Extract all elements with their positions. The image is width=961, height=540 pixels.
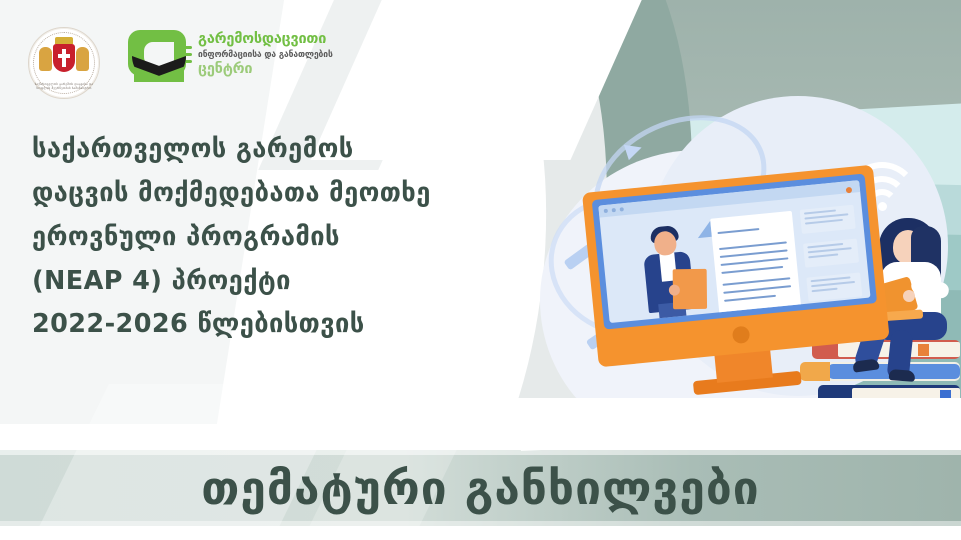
sidebar-card bbox=[800, 205, 856, 234]
eiec-logo-line2: ინფორმაციისა და განათლების bbox=[198, 50, 398, 61]
title-line-2: დაცვის მოქმედებათა მეოთხე bbox=[32, 172, 452, 216]
title-line-3: ეროვნული პროგრამის bbox=[32, 216, 452, 260]
title-line-1: საქართველოს გარემოს bbox=[32, 128, 452, 172]
sidebar-card bbox=[803, 239, 859, 268]
document-page bbox=[710, 211, 801, 315]
title-line-5: 2022-2026 წლებისთვის bbox=[32, 303, 452, 347]
monitor-body bbox=[582, 165, 890, 368]
logo-line bbox=[174, 46, 192, 49]
window-dot-icon bbox=[620, 207, 624, 211]
desktop-monitor bbox=[582, 164, 902, 412]
monitor-knob bbox=[732, 326, 751, 345]
eiec-logo-text: გარემოსდაცვითი ინფორმაციისა და განათლები… bbox=[198, 32, 398, 78]
window-dot-icon bbox=[604, 209, 608, 213]
logo-row: საქართველოს გარემოს დაცვისა და სოფლის მე… bbox=[0, 0, 420, 110]
screen-content bbox=[598, 180, 870, 323]
hand bbox=[903, 290, 915, 302]
window-dot-icon bbox=[612, 208, 616, 212]
sidebar-card bbox=[806, 272, 862, 301]
banner-title: თემატური განხილვები bbox=[0, 454, 961, 522]
eiec-book-logo bbox=[128, 30, 190, 88]
title-line-4: (NEAP 4) პროექტი bbox=[32, 260, 452, 304]
presentation-slide: საქართველოს გარემოს დაცვისა და სოფლის მე… bbox=[0, 0, 961, 540]
document-fold-icon bbox=[696, 221, 711, 238]
bottom-banner: თემატური განხილვები bbox=[0, 424, 961, 540]
eiec-logo: გარემოსდაცვითი ინფორმაციისა და განათლები… bbox=[128, 30, 398, 88]
lion-supporter-right bbox=[76, 47, 89, 71]
slide-title: საქართველოს გარემოს დაცვის მოქმედებათა მ… bbox=[32, 128, 452, 347]
eiec-logo-line3: ცენტრი bbox=[198, 62, 398, 78]
coat-of-arms-of-georgia-seal: საქართველოს გარემოს დაცვისა და სოფლის მე… bbox=[28, 27, 100, 99]
monitor-screen bbox=[592, 174, 877, 330]
shield-icon bbox=[53, 44, 75, 72]
crown-icon bbox=[55, 37, 73, 44]
logo-line bbox=[174, 53, 192, 56]
seal-caption: საქართველოს გარემოს დაცვისა და სოფლის მე… bbox=[28, 82, 100, 90]
lion-supporter-left bbox=[39, 47, 52, 71]
eiec-logo-line1: გარემოსდაცვითი bbox=[198, 32, 398, 48]
